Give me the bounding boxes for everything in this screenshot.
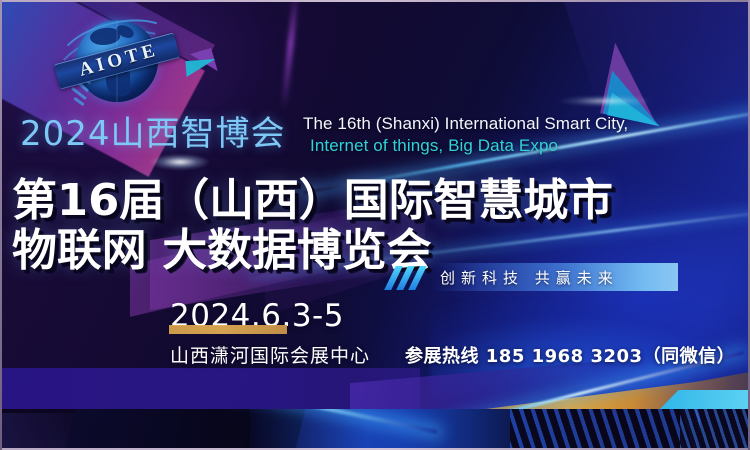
slogan-text: 创新科技 共赢未来 <box>432 267 619 288</box>
bg-vertical-purple-streak <box>281 0 300 110</box>
border-top <box>0 0 750 2</box>
slogan-bar: 创新科技 共赢未来 <box>432 263 678 291</box>
event-venue: 山西潇河国际会展中心 <box>170 341 370 368</box>
event-short-name: 2024山西智博会 <box>20 106 286 155</box>
strip-blue-glow <box>250 409 510 450</box>
bg-triangle-small-cyan <box>185 59 216 77</box>
border-left <box>0 0 2 450</box>
strip-hatch-right <box>510 409 700 450</box>
exhibitor-hotline: 参展热线 185 1968 3203（同微信） <box>405 342 735 368</box>
english-title-line1: The 16th (Shanxi) International Smart Ci… <box>303 113 743 135</box>
slash-bars-icon <box>390 266 432 290</box>
date-underline <box>169 325 287 334</box>
bottom-strip <box>0 409 750 450</box>
strip-hatch-far-right <box>680 409 750 450</box>
english-title-line2: Internet of things, Big Data Expo <box>303 135 743 157</box>
english-title: The 16th (Shanxi) International Smart Ci… <box>303 113 743 157</box>
aiote-globe-logo: AIOTE <box>52 8 180 116</box>
expo-poster: AIOTE 2024山西智博会 The 16th (Shanxi) Intern… <box>0 0 750 450</box>
bg-lens-flare-right <box>560 96 650 106</box>
main-title-line2: 物联网 大数据博览会 <box>12 214 432 278</box>
